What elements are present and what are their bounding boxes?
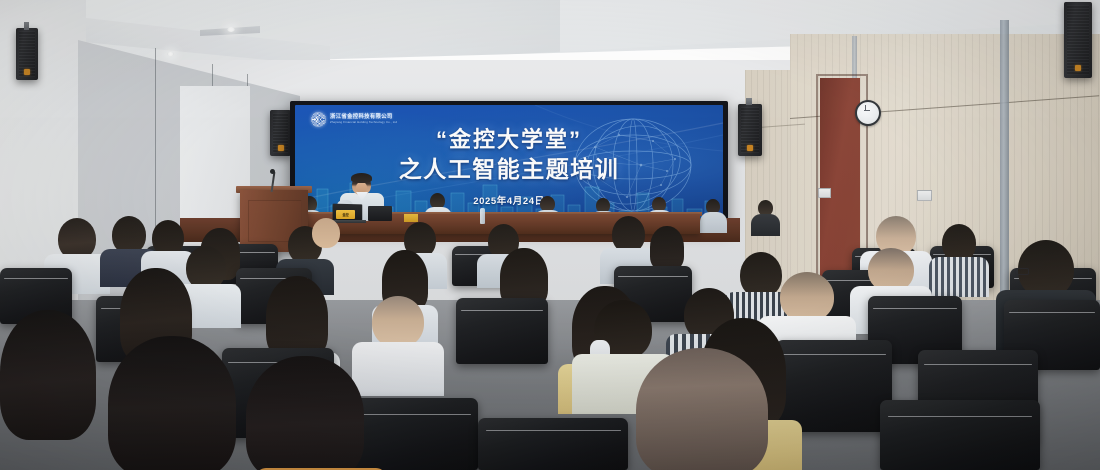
laptop-secondary: [368, 206, 392, 221]
company-logo-mark-icon: [311, 112, 326, 127]
screen-title-line-1: “金控大学堂”: [295, 127, 723, 152]
wall-pilaster: [1000, 20, 1009, 320]
wall-clock-icon: [855, 100, 881, 126]
table-row[interactable]: [880, 400, 1040, 470]
wall-speaker-right-far: [1064, 2, 1092, 78]
company-logo-english: Zhejiang Financial Holding Technology Co…: [330, 121, 397, 124]
water-bottle: [480, 208, 485, 224]
table-row[interactable]: [776, 340, 892, 432]
table-row[interactable]: [478, 418, 628, 470]
conference-room-photo: 浙江省金控科技有限公司 Zhejiang Financial Holding T…: [0, 0, 1100, 470]
wall-speaker-left: [16, 28, 38, 80]
downlight-icon: [167, 52, 174, 56]
presenter-hair: [351, 173, 372, 183]
wall-switch-plate[interactable]: [818, 188, 831, 198]
company-logo-chinese: 浙江省金控科技有限公司: [330, 115, 397, 120]
stage-speaker-left: [270, 110, 291, 156]
desk-nameplate: [404, 214, 418, 222]
speaker-bracket: [24, 22, 29, 30]
microphone-icon: [270, 169, 275, 174]
presenter-face: [356, 182, 367, 193]
table-row[interactable]: [456, 298, 548, 364]
laptop-nameplate: 金控: [336, 210, 355, 219]
eyeglasses-icon: [1015, 268, 1029, 275]
company-logo: 浙江省金控科技有限公司 Zhejiang Financial Holding T…: [311, 112, 397, 127]
stage-speaker-right: [738, 104, 762, 156]
wall-outlet-plate[interactable]: [917, 190, 932, 201]
speaker-bracket: [746, 98, 752, 105]
clock-minute-hand: [865, 105, 866, 111]
downlight-icon: [227, 27, 235, 32]
